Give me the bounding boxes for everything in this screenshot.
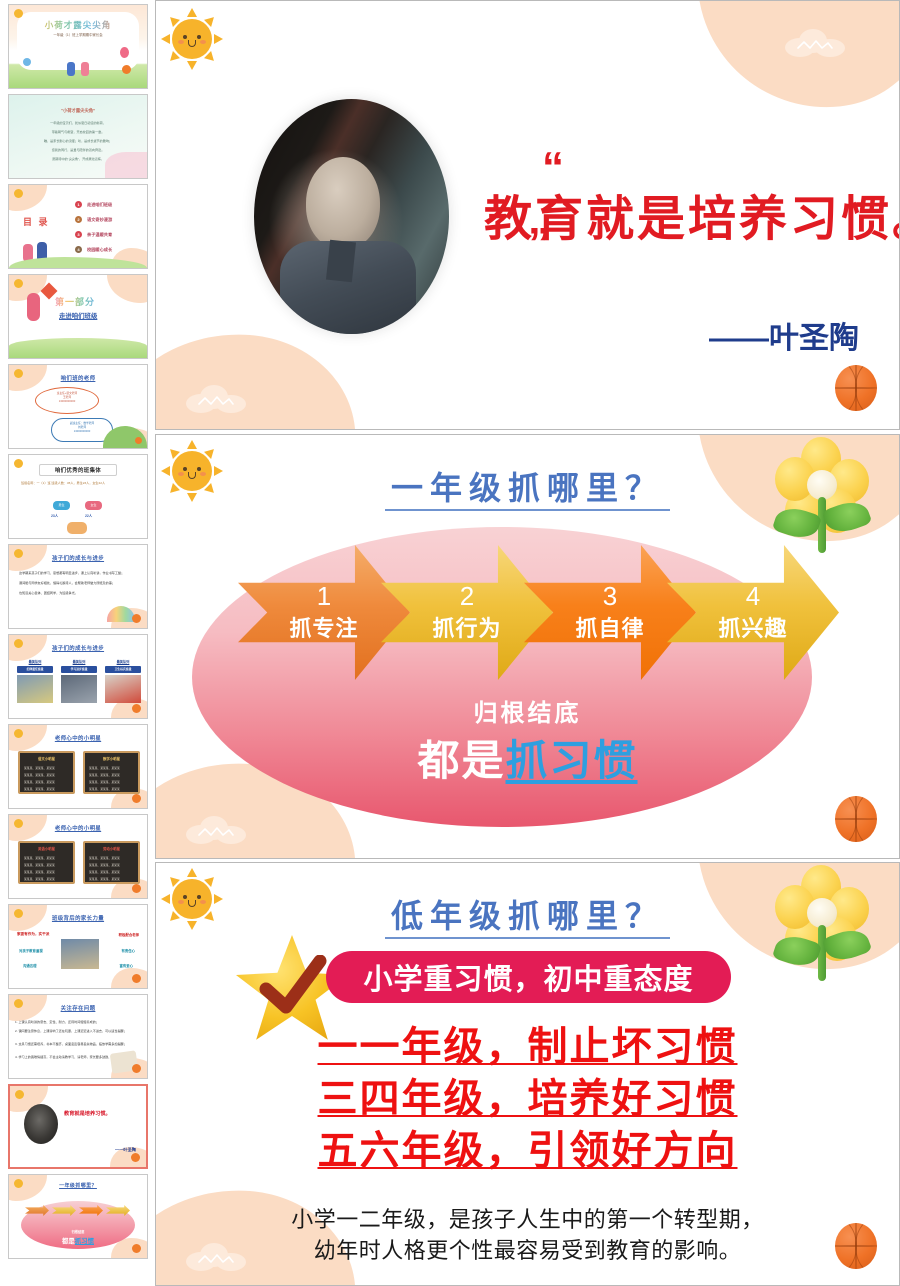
thumb-line: 1. 上课认真听讲的意志、定性、耐力，还待时间慢慢养成的； <box>15 1020 141 1024</box>
board-line: 某某某、某某某、某某某 <box>89 766 120 770</box>
board-line: 某某某、某某某、某某某 <box>24 766 55 770</box>
photo-label: 学习进步班级 <box>61 666 97 673</box>
kid-figure <box>67 62 75 76</box>
photo <box>105 675 141 703</box>
thumb-title: 咱们优秀的班集体 <box>39 464 117 476</box>
thumb-title: 咱们班的老师 <box>9 374 147 382</box>
photo-caption: 最美队列 <box>105 659 141 664</box>
photo <box>17 675 53 703</box>
photo-label: 纪律最佳班级 <box>17 666 53 673</box>
thumbnail-slide-12[interactable]: 关注存在问题 1. 上课认真听讲的意志、定性、耐力，还待时间慢慢养成的； 2. … <box>8 994 148 1079</box>
parent-tag: 沟通达理 <box>23 963 37 968</box>
summary-line-1: 归根结底 <box>156 693 899 728</box>
slide-grade1[interactable]: 一年级抓哪里？ 1 抓专注 2 抓行为 3 抓自律 4 抓兴趣 <box>155 434 900 859</box>
red-line: 三四年级，培养好习惯 <box>156 1073 899 1125</box>
thumbnail-slide-7[interactable]: 孩子们的成长与进步 这学期来孩子们的学习、思想都有明显进步，课上认真听讲，作业书… <box>8 544 148 629</box>
bubble-text: 班主任+语文老师 王老师 13000000000 <box>35 392 99 404</box>
board-title: 语文小明星 <box>20 756 73 761</box>
cloud-icon <box>785 27 847 57</box>
arrow-steps: 1 抓专注 2 抓行为 3 抓自律 4 抓兴趣 <box>238 545 813 680</box>
thumb-subtitle: 走进咱们班级 <box>59 311 97 320</box>
thumb-line: 班级名称：一（1）班 班级人数：45人，男生23人，女生22人 <box>21 481 139 485</box>
thumb-line: 一年级的宝贝们，犹似夏日初绽的新荷， <box>19 121 137 125</box>
slide-title: 一年级抓哪里？ <box>156 463 899 509</box>
thumb-title: 班级背后的家长力量 <box>9 914 147 922</box>
parent-tag: 对孩子教育重视 <box>19 948 43 953</box>
toc-num: 2 <box>75 216 82 223</box>
cloud-icon <box>186 814 248 844</box>
thumb-title: 孩子们的成长与进步 <box>9 644 147 652</box>
kid-figure <box>81 62 89 76</box>
thumbnail-slide-9[interactable]: 老师心中的小明星 语文小明星 某某某、某某某、某某某 某某某、某某某、某某某 某… <box>8 724 148 809</box>
thumbnail-slide-13[interactable]: 教育就是培养习惯。 ——叶圣陶 <box>8 1084 148 1169</box>
sub-plain: 都是 <box>62 1238 75 1245</box>
cloud-icon <box>186 383 248 413</box>
summary-line-2: 都是抓习惯 <box>156 727 899 788</box>
thumb-line: 课间能与同学友好相处，懂得礼貌待人，会帮助老师做力所能及的事； <box>19 581 137 585</box>
count-girls: 22人 <box>85 513 92 518</box>
toc-num: 4 <box>75 246 82 253</box>
summary-plain: 都是 <box>417 737 505 784</box>
thumbnail-slide-3[interactable]: 目 录 1 走进咱们班级 2 语文奇妙漫游 3 亲子温暖共育 4 校园暖心成长 <box>8 184 148 269</box>
toc-item: 亲子温暖共育 <box>87 232 112 238</box>
thumb-attribution: ——叶圣陶 <box>115 1147 136 1153</box>
photo-caption: 最美队列 <box>61 659 97 664</box>
thumb-title: “小荷才露尖尖角” <box>9 108 147 114</box>
toc-item: 语文奇妙漫游 <box>87 217 112 223</box>
red-line: 一一年级，制止坏习惯 <box>156 1021 899 1073</box>
portrait-thumb <box>24 1104 58 1144</box>
board-line: 某某某、某某某、某某某 <box>89 870 120 874</box>
tag-girls: 女生 <box>85 501 102 510</box>
photo <box>61 939 99 969</box>
thumb-title: 目 录 <box>23 215 50 228</box>
board-title: 劳动小明星 <box>85 846 138 851</box>
basketball-icon <box>835 365 877 411</box>
thumbnail-slide-8[interactable]: 孩子们的成长与进步 最美队列 最美队列 最美队列 纪律最佳班级 学习进步班级 卫… <box>8 634 148 719</box>
photo-caption: 最美队列 <box>17 659 53 664</box>
thumbnail-slide-2[interactable]: “小荷才露尖尖角” 一年级的宝贝们，犹似夏日初绽的新荷， 带着朝气与希望，开启校… <box>8 94 148 179</box>
board-line: 某某某、某某某、某某某 <box>24 787 55 791</box>
board-line: 某某某、某某某、某某某 <box>24 780 55 784</box>
step-label: 抓行为 <box>432 611 501 643</box>
flower-decor <box>105 152 147 178</box>
thumb-line: 瞧，是家长耐心的浇灌；听，是成长拔节的脆响； <box>15 139 141 143</box>
board-line: 某某某、某某某、某某某 <box>24 870 55 874</box>
slide-quote[interactable]: “ 教育就是培养习惯。 ” ——叶圣陶 <box>155 0 900 430</box>
board-line: 某某某、某某某、某某某 <box>89 787 120 791</box>
thumb-title: 老师心中的小明星 <box>9 734 147 742</box>
footer-note: 小学一二年级，是孩子人生中的第一个转型期， 幼年时人格更个性最容易受到教育的影响… <box>156 1205 899 1267</box>
footer-line: 幼年时人格更个性最容易受到教育的影响。 <box>156 1236 899 1267</box>
board-line: 某某某、某某某、某某某 <box>24 856 55 860</box>
balloon-icon <box>120 47 129 58</box>
quote-close-mark: ” <box>528 219 550 269</box>
thumb-line: 也知道关心集体、团结同学，为班级争光。 <box>19 591 137 595</box>
thumbnail-slide-14[interactable]: 一年级抓哪里？ 归根结底 都是抓习惯 <box>8 1174 148 1259</box>
slide-thumbnail-panel[interactable]: 小荷才露尖尖角 一年级（1）班上学期期中家长会 “小荷才露尖尖角” 一年级的宝贝… <box>0 0 155 1286</box>
thumb-title: 一年级抓哪里？ <box>9 1182 147 1189</box>
sun-face-icon <box>162 9 222 69</box>
thumb-line: 3. 文具习惯还需培养，书本不整齐，桌面凌乱容易丢失物品，临放学需多加提醒； <box>15 1042 141 1046</box>
corner-blob-bottom-left <box>155 325 362 430</box>
parent-tag: 有责任心 <box>121 948 135 953</box>
thumb-title: 老师心中的小明星 <box>9 824 147 832</box>
slide-canvas: “ 教育就是培养习惯。 ” ——叶圣陶 <box>155 0 900 1286</box>
thumb-title: 第一部分 <box>55 295 95 308</box>
balloon-icon <box>23 58 31 66</box>
thumb-quote: 教育就是培养习惯。 <box>64 1110 111 1117</box>
thumb-title: 小荷才露尖尖角 <box>9 19 147 31</box>
parent-tag: 家委有作为，实干派 <box>17 932 49 937</box>
sub-accent: 抓习惯 <box>75 1238 94 1245</box>
board-line: 某某某、某某某、某某某 <box>89 863 120 867</box>
thumbnail-slide-10[interactable]: 老师心中的小明星 英语小明星 某某某、某某某、某某某 某某某、某某某、某某某 某… <box>8 814 148 899</box>
thumbnail-slide-4[interactable]: 第一部分 走进咱们班级 <box>8 274 148 359</box>
slide-title-text: 一年级抓哪里？ <box>385 470 670 511</box>
tag-boys: 男生 <box>53 501 70 510</box>
presentation-window: 小荷才露尖尖角 一年级（1）班上学期期中家长会 “小荷才露尖尖角” 一年级的宝贝… <box>0 0 900 1286</box>
red-line: 五六年级，引领好方向 <box>156 1125 899 1177</box>
banner-pill: 小学重习惯，初中重态度 <box>326 951 731 1003</box>
arrow-step-1: 1 抓专注 <box>238 545 410 680</box>
kid-figure <box>27 293 40 321</box>
step-number: 4 <box>746 583 760 609</box>
parent-tag: 富有爱心 <box>119 963 133 968</box>
step-label: 抓专注 <box>289 611 358 643</box>
kids-reading-icon <box>67 522 87 534</box>
sub-line-1: 归根结底 <box>9 1229 147 1234</box>
board-line: 某某某、某某某、某某某 <box>24 863 55 867</box>
portrait-photo <box>254 99 449 334</box>
toc-item: 校园暖心成长 <box>87 247 112 253</box>
step-number: 2 <box>460 583 474 609</box>
summary-accent: 抓习惯 <box>506 737 638 784</box>
sub-line-2: 都是抓习惯 <box>9 1236 147 1245</box>
thumb-title: 孩子们的成长与进步 <box>9 554 147 562</box>
thumb-title: 关注存在问题 <box>9 1004 147 1012</box>
step-number: 1 <box>317 583 331 609</box>
board-line: 某某某、某某某、某某某 <box>89 877 120 881</box>
thumbnail-slide-11[interactable]: 班级背后的家长力量 家委有作为，实干派 积极配合老师 对孩子教育重视 有责任心 … <box>8 904 148 989</box>
parent-tag: 积极配合老师 <box>119 932 139 937</box>
toc-item: 走进咱们班级 <box>87 202 112 208</box>
board-line: 某某某、某某某、某某某 <box>24 773 55 777</box>
footer-line: 小学一二年级，是孩子人生中的第一个转型期， <box>156 1205 899 1236</box>
basketball-icon <box>835 796 877 842</box>
board-line: 某某某、某某某、某某某 <box>24 877 55 881</box>
thumb-line: 这学期来孩子们的学习、思想都有明显进步，课上认真听讲，作业书写工整； <box>19 571 137 575</box>
photo-label: 卫生标兵班级 <box>105 666 141 673</box>
toc-num: 3 <box>75 231 82 238</box>
thumbnail-slide-1[interactable]: 小荷才露尖尖角 一年级（1）班上学期期中家长会 <box>8 4 148 89</box>
thumbnail-slide-5[interactable]: 咱们班的老师 班主任+语文老师 王老师 13000000000 副班主任：数学老… <box>8 364 148 449</box>
toc-num: 1 <box>75 201 82 208</box>
red-lines: 一一年级，制止坏习惯 三四年级，培养好习惯 五六年级，引领好方向 <box>156 1021 899 1177</box>
board-line: 某某某、某某某、某某某 <box>89 856 120 860</box>
slide-title: 低年级抓哪里？ <box>156 891 899 937</box>
photo <box>61 675 97 703</box>
step-label: 抓自律 <box>575 611 644 643</box>
board-line: 某某某、某某某、某某某 <box>89 773 120 777</box>
thumbnail-slide-6[interactable]: 咱们优秀的班集体 班级名称：一（1）班 班级人数：45人，男生23人，女生22人… <box>8 454 148 539</box>
step-label: 抓兴趣 <box>718 611 787 643</box>
thumb-subtitle: 一年级（1）班上学期期中家长会 <box>9 32 147 37</box>
step-number: 3 <box>603 583 617 609</box>
slide-title-text: 低年级抓哪里？ <box>385 898 670 939</box>
thumb-line: 带着朝气与希望，开启校园的第一章。 <box>19 130 137 134</box>
board-title: 数学小明星 <box>85 756 138 761</box>
bubble-text: 副班主任：数学老师 刘老师 13000000000 <box>51 422 113 434</box>
slide-lower-grades[interactable]: 低年级抓哪里？ 小学重习惯，初中重态度 一一年级，制止坏习惯 三四年级，培养好习… <box>155 862 900 1286</box>
quote-attribution: ——叶圣陶 <box>709 313 859 357</box>
board-title: 英语小明星 <box>20 846 73 851</box>
board-line: 某某某、某某某、某某某 <box>89 780 120 784</box>
thumb-line: 2. 课间要注意休息，上课铃响了还在玩耍，上课迟迟进入不进去，可以适当提醒； <box>15 1029 141 1033</box>
count-boys: 23人 <box>51 513 58 518</box>
